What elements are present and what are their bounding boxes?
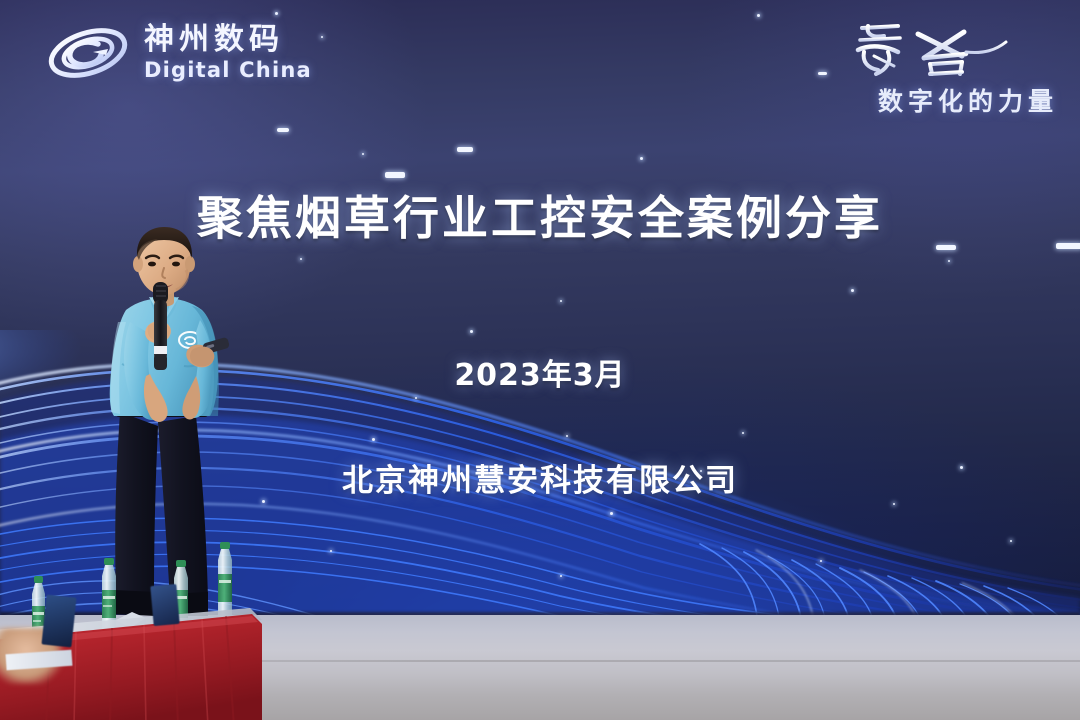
particle-dot: [742, 432, 744, 434]
digital-china-wordmark: 神州数码 Digital China: [144, 25, 312, 81]
particle-dash: [457, 147, 473, 152]
juhe-calligraphy-icon: [808, 18, 1058, 80]
brand-name-en: Digital China: [144, 60, 312, 81]
brand-name-cn: 神州数码: [144, 25, 312, 55]
particle-dot: [893, 503, 895, 505]
particle-dot: [820, 560, 822, 562]
particle-dot: [566, 435, 568, 437]
particle-dot: [851, 289, 854, 292]
event-logo: 数字化的力量: [808, 18, 1058, 118]
particle-dot: [610, 512, 613, 515]
digital-china-swirl-icon: [46, 22, 130, 84]
particle-dot: [470, 330, 473, 333]
name-card: [150, 584, 179, 626]
name-card: [41, 595, 76, 648]
particle-dot: [321, 36, 323, 38]
particle-dot: [1010, 540, 1012, 542]
digital-china-logo: 神州数码 Digital China: [46, 22, 312, 84]
particle-dash: [385, 172, 405, 178]
particle-dot: [560, 300, 562, 302]
particle-dot: [415, 397, 417, 399]
particle-dot: [948, 260, 950, 262]
particle-dot: [330, 550, 332, 552]
particle-dot: [275, 12, 278, 15]
particle-dot: [560, 575, 562, 577]
particle-dot: [372, 438, 375, 441]
event-tagline: 数字化的力量: [808, 82, 1058, 118]
particle-dot: [757, 14, 760, 17]
particle-dot: [362, 153, 364, 155]
particle-dot: [640, 157, 643, 160]
conference-photo: 神州数码 Digital China: [0, 0, 1080, 720]
particle-dot: [300, 258, 302, 260]
microphone-icon: [153, 282, 168, 370]
particle-dash: [277, 128, 289, 132]
